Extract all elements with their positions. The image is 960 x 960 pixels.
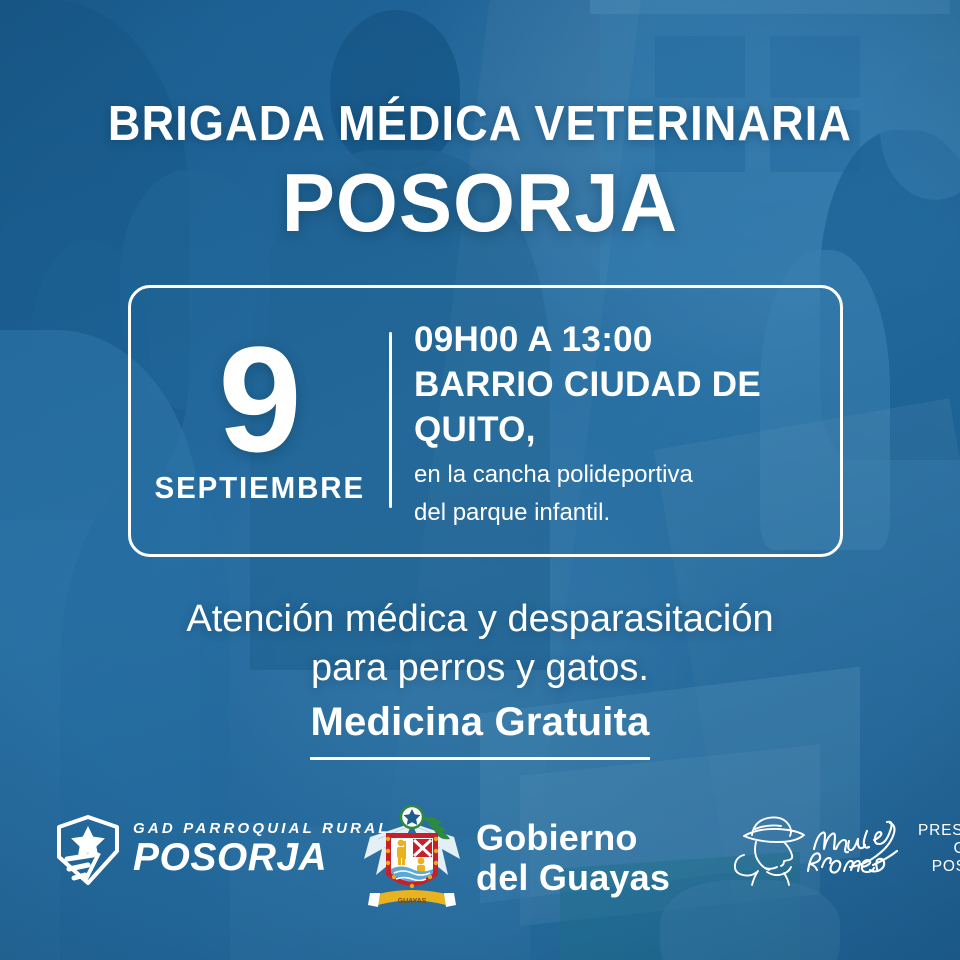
event-date-block: 9 SEPTIEMBRE (131, 288, 389, 554)
gad-posorja-name: POSORJA (133, 838, 391, 879)
gobierno-guayas-line-1: Gobierno (476, 818, 670, 858)
tagline-line-1: Atención médica y desparasitación (0, 595, 960, 644)
poster-canvas: BRIGADA MÉDICA VETERINARIA POSORJA 9 SEP… (0, 0, 960, 960)
service-tagline: Atención médica y desparasitación para p… (0, 595, 960, 692)
title-line-2: POSORJA (19, 161, 941, 244)
event-detail-block: 09H00 A 13:00 BARRIO CIUDAD DE QUITO, en… (392, 288, 840, 554)
gad-posorja-text: GAD PARROQUIAL RURAL POSORJA (133, 821, 391, 879)
free-medicine-highlight: Medicina Gratuita (310, 700, 649, 760)
event-venue-line-2: del parque infantil. (414, 498, 840, 527)
gobierno-guayas-line-2: del Guayas (476, 858, 670, 898)
poster-content: BRIGADA MÉDICA VETERINARIA POSORJA 9 SEP… (0, 0, 960, 960)
shield-star-icon (55, 813, 121, 887)
title-line-1: BRIGADA MÉDICA VETERINARIA (38, 100, 921, 149)
logo-gad-posorja: GAD PARROQUIAL RURAL POSORJA (55, 813, 391, 887)
poster-headline: BRIGADA MÉDICA VETERINARIA POSORJA (0, 100, 960, 244)
gobierno-guayas-text: Gobierno del Guayas (476, 818, 670, 899)
event-venue-line-1: en la cancha polideportiva (414, 460, 840, 489)
footer-logos: GAD PARROQUIAL RURAL POSORJA (0, 795, 960, 925)
free-medicine-wrap: Medicina Gratuita (0, 700, 960, 760)
tagline-line-2: para perros y gatos. (0, 644, 960, 693)
logo-presidente: PRESIDENTE GAD POSORJA (722, 809, 922, 887)
gad-posorja-kicker: GAD PARROQUIAL RURAL (133, 821, 391, 836)
event-day-number: 9 (218, 335, 301, 464)
event-schedule: 09H00 A 13:00 (414, 318, 840, 363)
portrait-hat-signature-icon (722, 809, 918, 887)
guayas-coat-of-arms-icon: GUAYAS (360, 803, 464, 913)
svg-text:GUAYAS: GUAYAS (398, 898, 427, 905)
event-month-label: SEPTIEMBRE (155, 470, 365, 506)
event-location-line-2: QUITO, (414, 408, 840, 453)
event-location-line-1: BARRIO CIUDAD DE (414, 363, 840, 408)
event-info-box: 9 SEPTIEMBRE 09H00 A 13:00 BARRIO CIUDAD… (128, 285, 843, 557)
presidente-caption: PRESIDENTE GAD POSORJA (918, 822, 960, 876)
presidente-logo-inner (722, 809, 918, 887)
logo-gobierno-del-guayas: GUAYAS Gobierno del Guayas (360, 803, 670, 913)
